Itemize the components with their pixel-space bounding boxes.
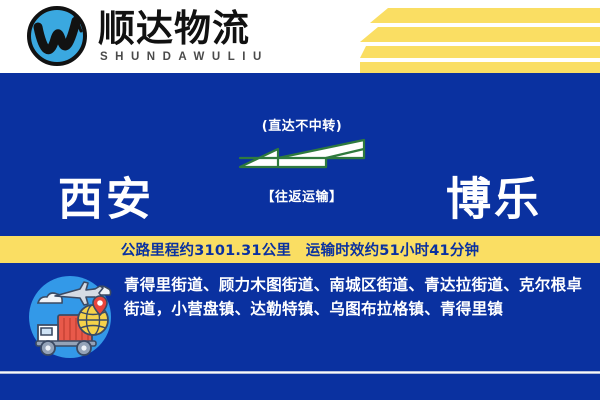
route-arrow-group: (直达不中转) 【往返运输】 bbox=[238, 115, 366, 205]
destination-city: 博乐 bbox=[446, 163, 542, 228]
footer-strip bbox=[0, 374, 600, 400]
coverage-section: 青得里街道、顾力木图街道、南城区街道、青达拉街道、克尔根卓街道，小营盘镇、达勒特… bbox=[0, 263, 600, 371]
route-section: 西安 博乐 (直达不中转) 【往返运输】 bbox=[0, 73, 600, 236]
distance-duration-bar: 公路里程约3101.31公里 运输时效约51小时41分钟 bbox=[0, 236, 600, 263]
brand-name-cn: 顺达物流 bbox=[98, 9, 269, 48]
round-trip-note: 【往返运输】 bbox=[238, 186, 366, 205]
bidirectional-arrow-icon bbox=[238, 136, 366, 183]
origin-city: 西安 bbox=[58, 163, 154, 228]
diagonal-stripes-decoration bbox=[360, 0, 600, 73]
logistics-truck-globe-icon bbox=[24, 271, 116, 363]
brand-name-en: SHUNDAWULIU bbox=[98, 51, 269, 63]
brand-logo: 顺达物流 SHUNDAWULIU bbox=[26, 5, 269, 67]
direct-shipping-note: (直达不中转) bbox=[238, 115, 366, 134]
coverage-areas-text: 青得里街道、顾力木图街道、南城区街道、青达拉街道、克尔根卓街道，小营盘镇、达勒特… bbox=[124, 273, 584, 321]
banner-header: 顺达物流 SHUNDAWULIU bbox=[0, 0, 600, 73]
logistics-route-banner: 顺达物流 SHUNDAWULIU 西安 博乐 (直达不中转) 【往返运输】 公路… bbox=[0, 0, 600, 400]
brand-text: 顺达物流 SHUNDAWULIU bbox=[98, 9, 269, 63]
circular-swoosh-logo-icon bbox=[26, 5, 88, 67]
distance-duration-text: 公路里程约3101.31公里 运输时效约51小时41分钟 bbox=[121, 239, 480, 260]
